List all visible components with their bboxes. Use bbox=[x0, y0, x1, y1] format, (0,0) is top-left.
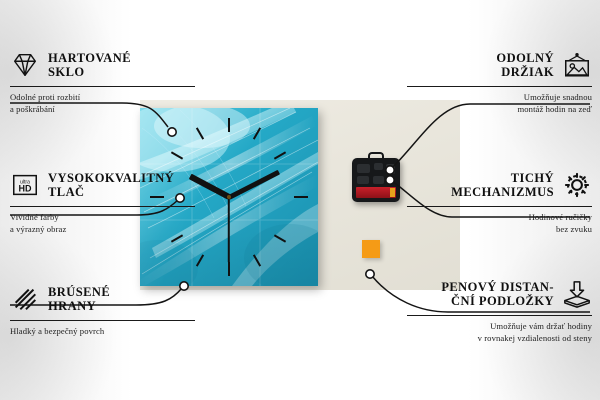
feature-title: VYSOKOKVALITNÝ TLAČ bbox=[48, 171, 174, 200]
feature-foam-spacers: PENOVÝ DISTAN- ČNÍ PODLOŽKY Umožňuje vám… bbox=[407, 277, 592, 344]
feature-title: TICHÝ MECHANIZMUS bbox=[451, 171, 554, 200]
mechanism-hanger-hook bbox=[368, 152, 384, 161]
feature-divider bbox=[10, 320, 195, 321]
mechanism-slot bbox=[386, 164, 395, 174]
feature-title: PENOVÝ DISTAN- ČNÍ PODLOŽKY bbox=[441, 280, 554, 309]
clock-center-cap bbox=[227, 195, 231, 199]
clock-mechanism bbox=[352, 158, 400, 202]
battery-positive-terminal bbox=[390, 188, 395, 197]
feature-header: ODOLNÝ DRŽIAK bbox=[407, 48, 592, 82]
mechanism-slot bbox=[357, 164, 370, 173]
feature-silent-mechanism: TICHÝ MECHANIZMUS Hodinové ručičky bez z… bbox=[407, 168, 592, 235]
feature-description: Hodinové ručičky bez zvuku bbox=[407, 211, 592, 235]
feature-divider bbox=[407, 86, 592, 87]
infographic-canvas: HARTOVANÉ SKLO Odolné proti rozbití a po… bbox=[0, 0, 600, 400]
clock-second-hand bbox=[228, 197, 230, 263]
gear-icon bbox=[562, 170, 592, 200]
feature-description: Odolné proti rozbití a poškrábání bbox=[10, 91, 195, 115]
feature-description: Umožňuje snadnou montáž hodin na zeď bbox=[407, 91, 592, 115]
svg-text:HD: HD bbox=[19, 184, 32, 194]
feature-divider bbox=[407, 315, 592, 316]
feature-description: Umožňuje vám držať hodiny v rovnakej vzd… bbox=[407, 320, 592, 344]
mechanism-slot bbox=[373, 176, 384, 184]
feature-header: TICHÝ MECHANIZMUS bbox=[407, 168, 592, 202]
diamond-icon bbox=[10, 50, 40, 80]
feature-description: Hladký a bezpečný povrch bbox=[10, 325, 195, 337]
feature-header: PENOVÝ DISTAN- ČNÍ PODLOŽKY bbox=[407, 277, 592, 311]
feature-title: BRÚSENÉ HRANY bbox=[48, 285, 110, 314]
mechanism-battery bbox=[356, 187, 396, 198]
ground-edges-icon bbox=[10, 284, 40, 314]
feature-header: BRÚSENÉ HRANY bbox=[10, 282, 195, 316]
wall-hanger-icon bbox=[562, 50, 592, 80]
mechanism-slot bbox=[357, 176, 369, 184]
ultra-hd-icon: ultra HD bbox=[10, 170, 40, 200]
foam-spacer-pad bbox=[362, 240, 380, 258]
clock-tick bbox=[294, 196, 308, 198]
feature-divider bbox=[10, 206, 195, 207]
feature-high-quality-print: ultra HD VYSOKOKVALITNÝ TLAČ Vividné far… bbox=[10, 168, 195, 235]
feature-description: Vividné farby a výrazný obraz bbox=[10, 211, 195, 235]
clock-tick bbox=[228, 118, 230, 132]
feature-divider bbox=[407, 206, 592, 207]
mechanism-slot bbox=[374, 163, 383, 170]
feature-hardened-glass: HARTOVANÉ SKLO Odolné proti rozbití a po… bbox=[10, 48, 195, 115]
feature-divider bbox=[10, 86, 195, 87]
feature-ground-edges: BRÚSENÉ HRANY Hladký a bezpečný povrch bbox=[10, 282, 195, 337]
feature-header: HARTOVANÉ SKLO bbox=[10, 48, 195, 82]
feature-header: ultra HD VYSOKOKVALITNÝ TLAČ bbox=[10, 168, 195, 202]
clock-tick bbox=[228, 262, 230, 276]
feature-title: HARTOVANÉ SKLO bbox=[48, 51, 131, 80]
feature-durable-holder: ODOLNÝ DRŽIAK Umožňuje snadnou montáž ho… bbox=[407, 48, 592, 115]
feature-title: ODOLNÝ DRŽIAK bbox=[496, 51, 554, 80]
foam-spacer-icon bbox=[562, 279, 592, 309]
